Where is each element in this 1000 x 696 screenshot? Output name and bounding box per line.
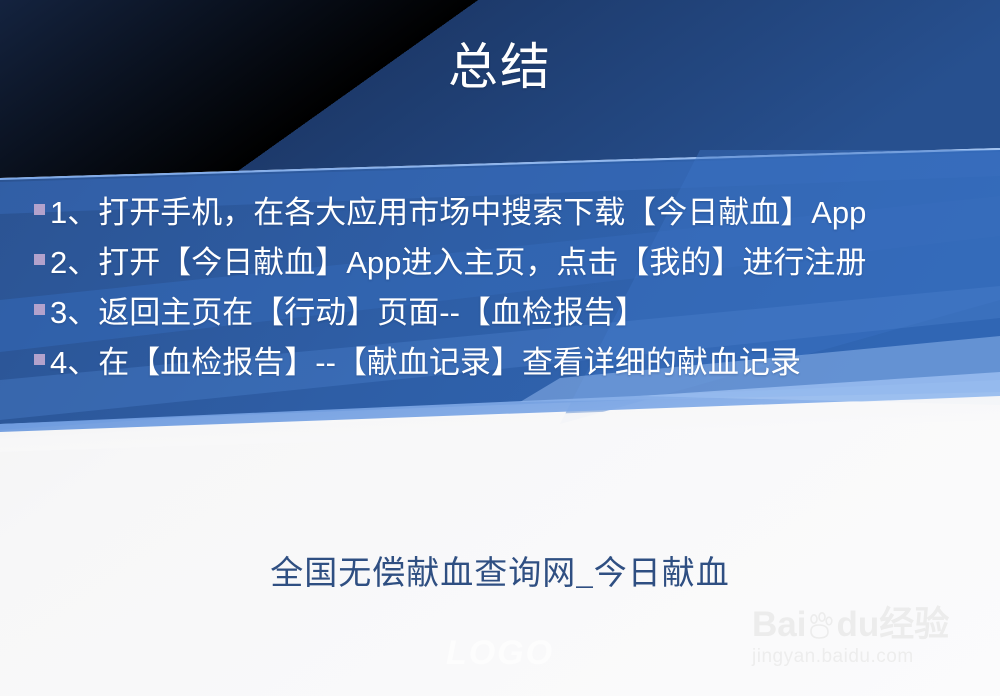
footer-caption: 全国无偿献血查询网_今日献血: [0, 552, 1000, 596]
square-bullet-icon: [34, 304, 45, 315]
watermark-brand-line: Bai du经验: [752, 606, 988, 644]
slide-title: 总结: [0, 36, 1000, 98]
list-item-text: 3、返回主页在【行动】页面--【血检报告】: [50, 290, 984, 336]
list-item-text: 2、打开【今日献血】App进入主页，点击【我的】进行注册: [50, 240, 984, 286]
watermark-brand-du: du: [836, 605, 879, 644]
list-item-text: 4、在【血检报告】--【献血记录】查看详细的献血记录: [50, 340, 984, 386]
list-item: 4、在【血检报告】--【献血记录】查看详细的献血记录: [34, 340, 984, 386]
square-bullet-icon: [34, 204, 45, 215]
baidu-watermark: Bai du经验 jingyan.baidu.com: [752, 606, 988, 669]
presentation-slide: 总结 1、打开手机，在各大应用市场中搜索下载【今日献血】App 2、打开【今日献…: [0, 0, 1000, 696]
watermark-brand-cn: 经验: [879, 605, 949, 644]
bullet-list: 1、打开手机，在各大应用市场中搜索下载【今日献血】App 2、打开【今日献血】A…: [34, 190, 984, 390]
list-item: 1、打开手机，在各大应用市场中搜索下载【今日献血】App: [34, 190, 984, 236]
square-bullet-icon: [34, 354, 45, 365]
paw-print-icon: [806, 612, 836, 642]
list-item: 3、返回主页在【行动】页面--【血检报告】: [34, 290, 984, 336]
watermark-url: jingyan.baidu.com: [752, 645, 988, 669]
list-item-text: 1、打开手机，在各大应用市场中搜索下载【今日献血】App: [50, 190, 984, 236]
square-bullet-icon: [34, 254, 45, 265]
list-item: 2、打开【今日献血】App进入主页，点击【我的】进行注册: [34, 240, 984, 286]
watermark-brand-bai: Bai: [752, 605, 806, 644]
